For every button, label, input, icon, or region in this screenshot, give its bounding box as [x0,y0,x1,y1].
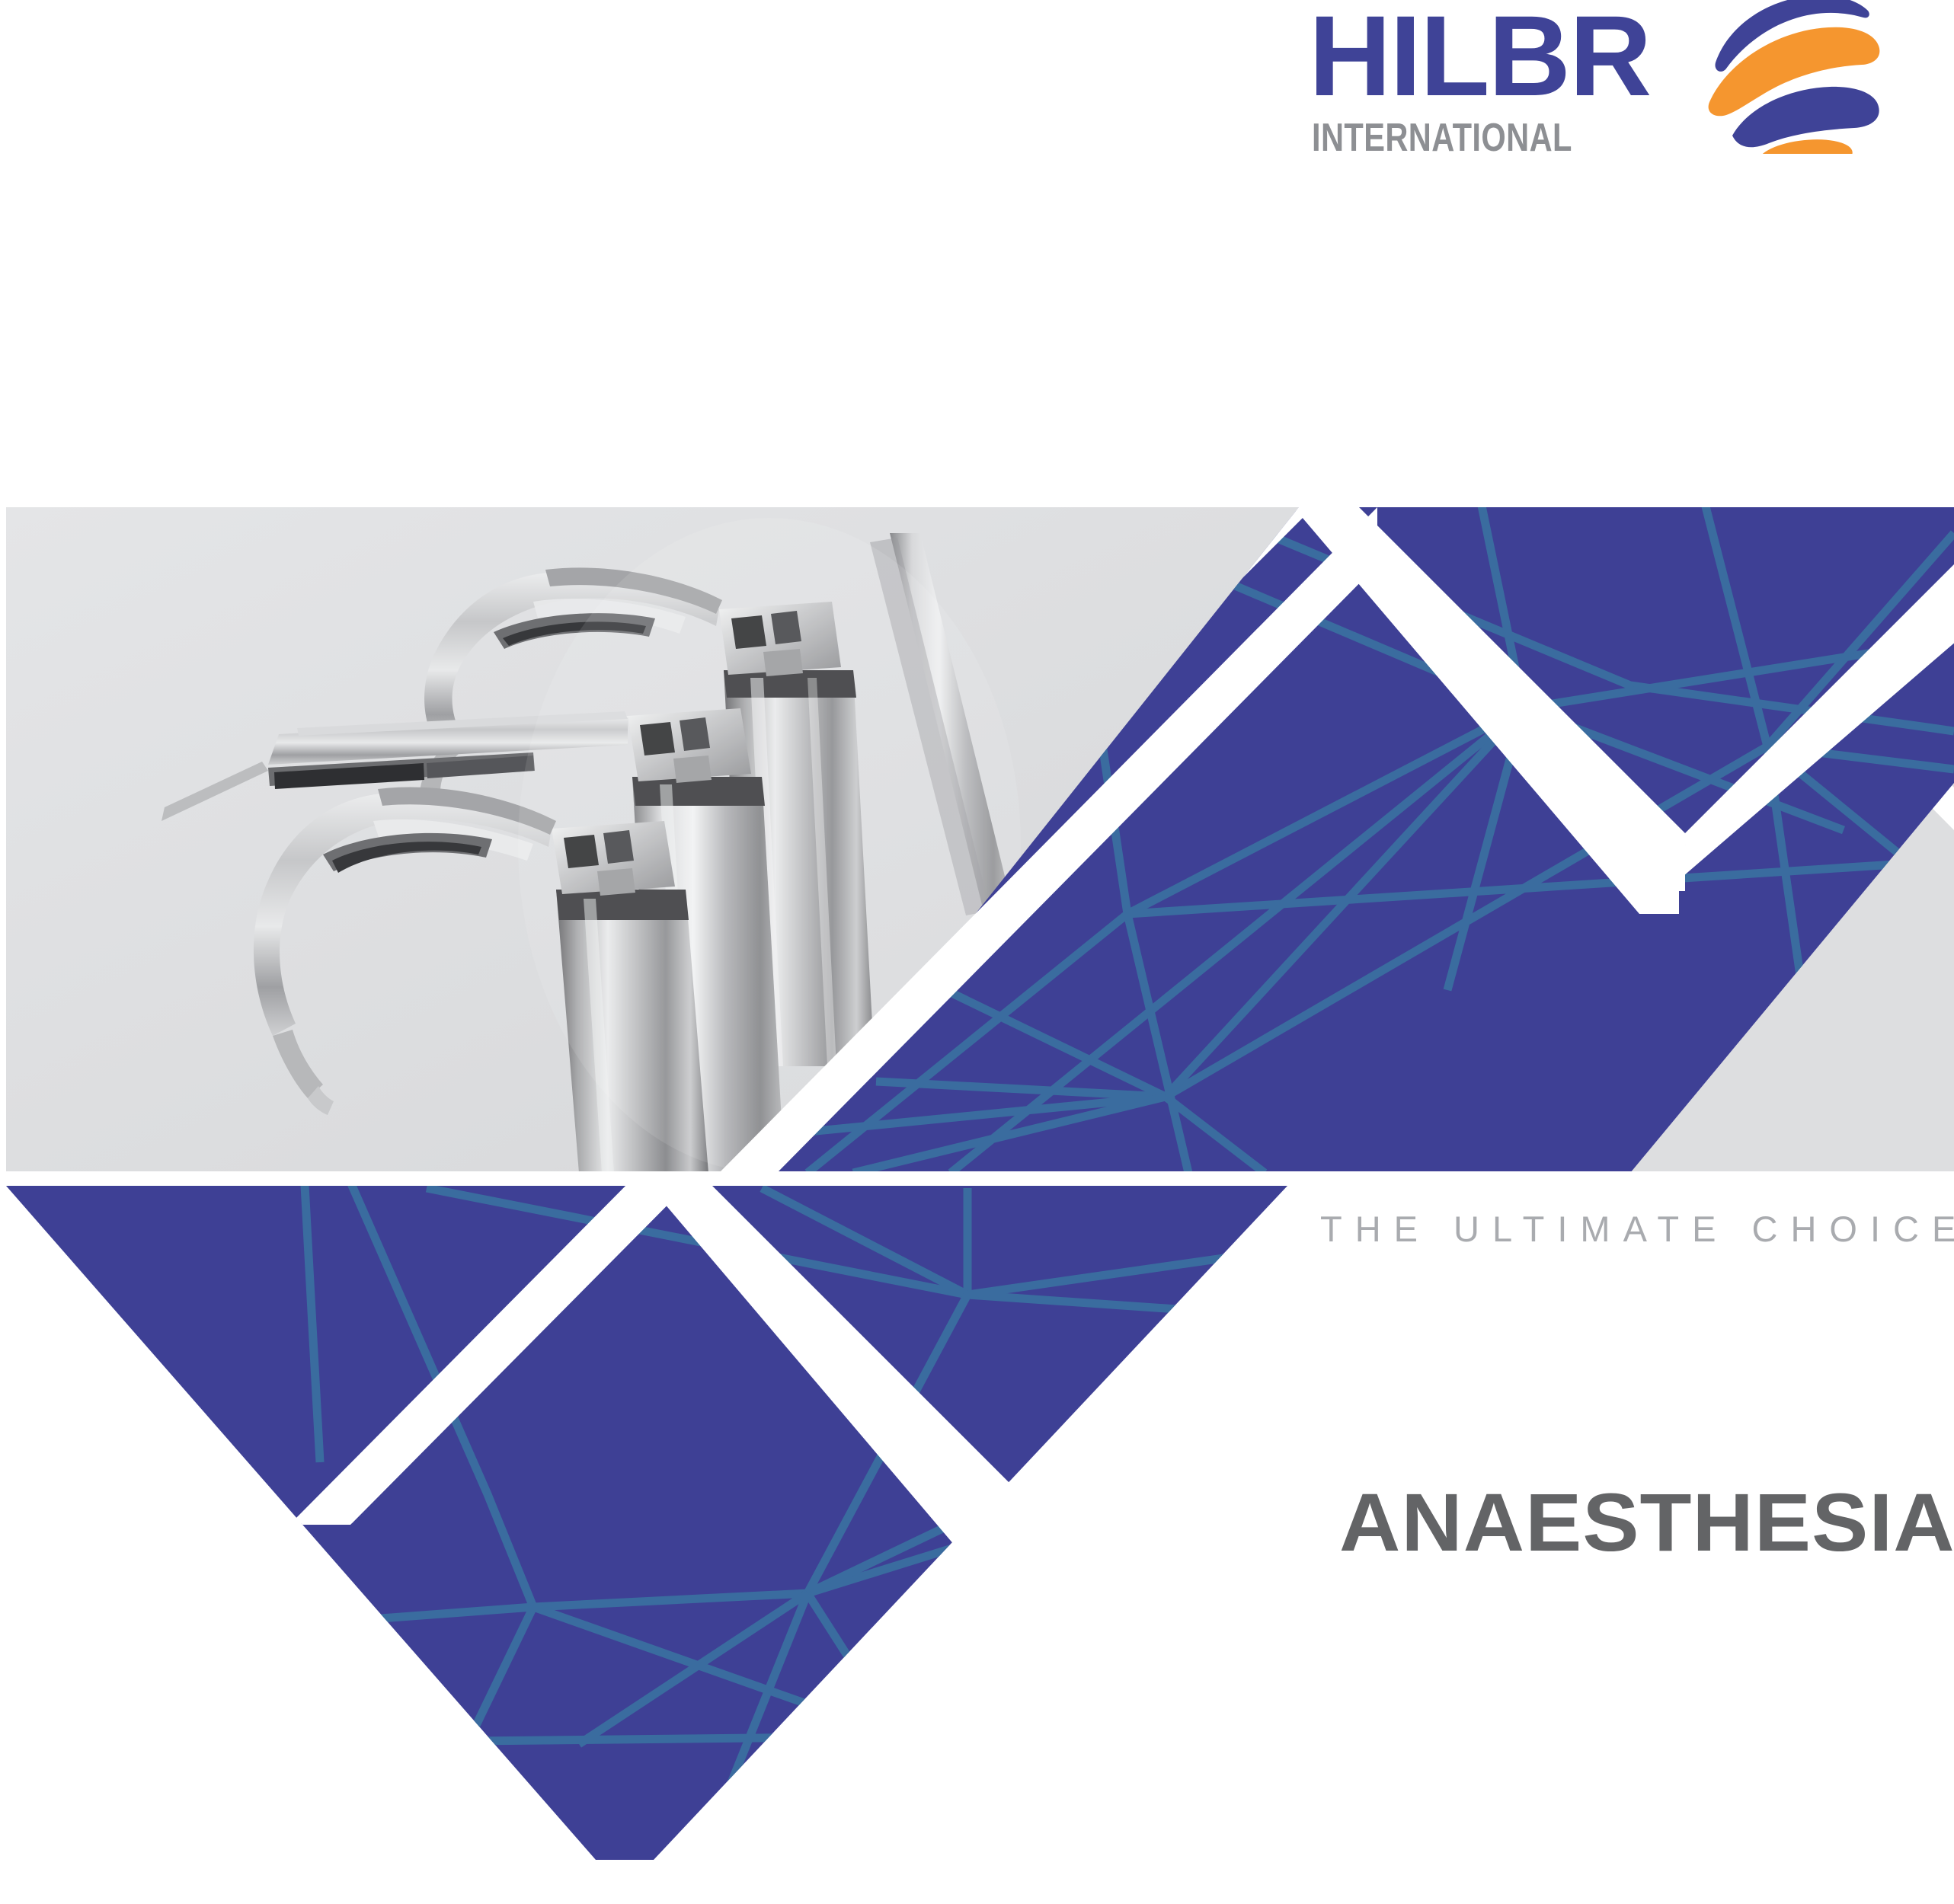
pattern-lower [0,1173,1341,1900]
brand-logo: HILBR INTERNATIONAL [1309,0,1918,175]
page-title: ANAESTHESIA [1339,1480,1954,1565]
artwork-svg [0,0,1954,1900]
band-gutter [0,1171,1954,1186]
logo-subtitle: INTERNATIONAL [1312,118,1572,158]
logo-wordmark: HILBR [1309,0,1650,113]
hilbro-globe-swoosh-icon [1699,0,1927,154]
cover-artwork [0,0,1954,1900]
tagline: THE ULTIMATE CHOICE [1320,1209,1954,1249]
